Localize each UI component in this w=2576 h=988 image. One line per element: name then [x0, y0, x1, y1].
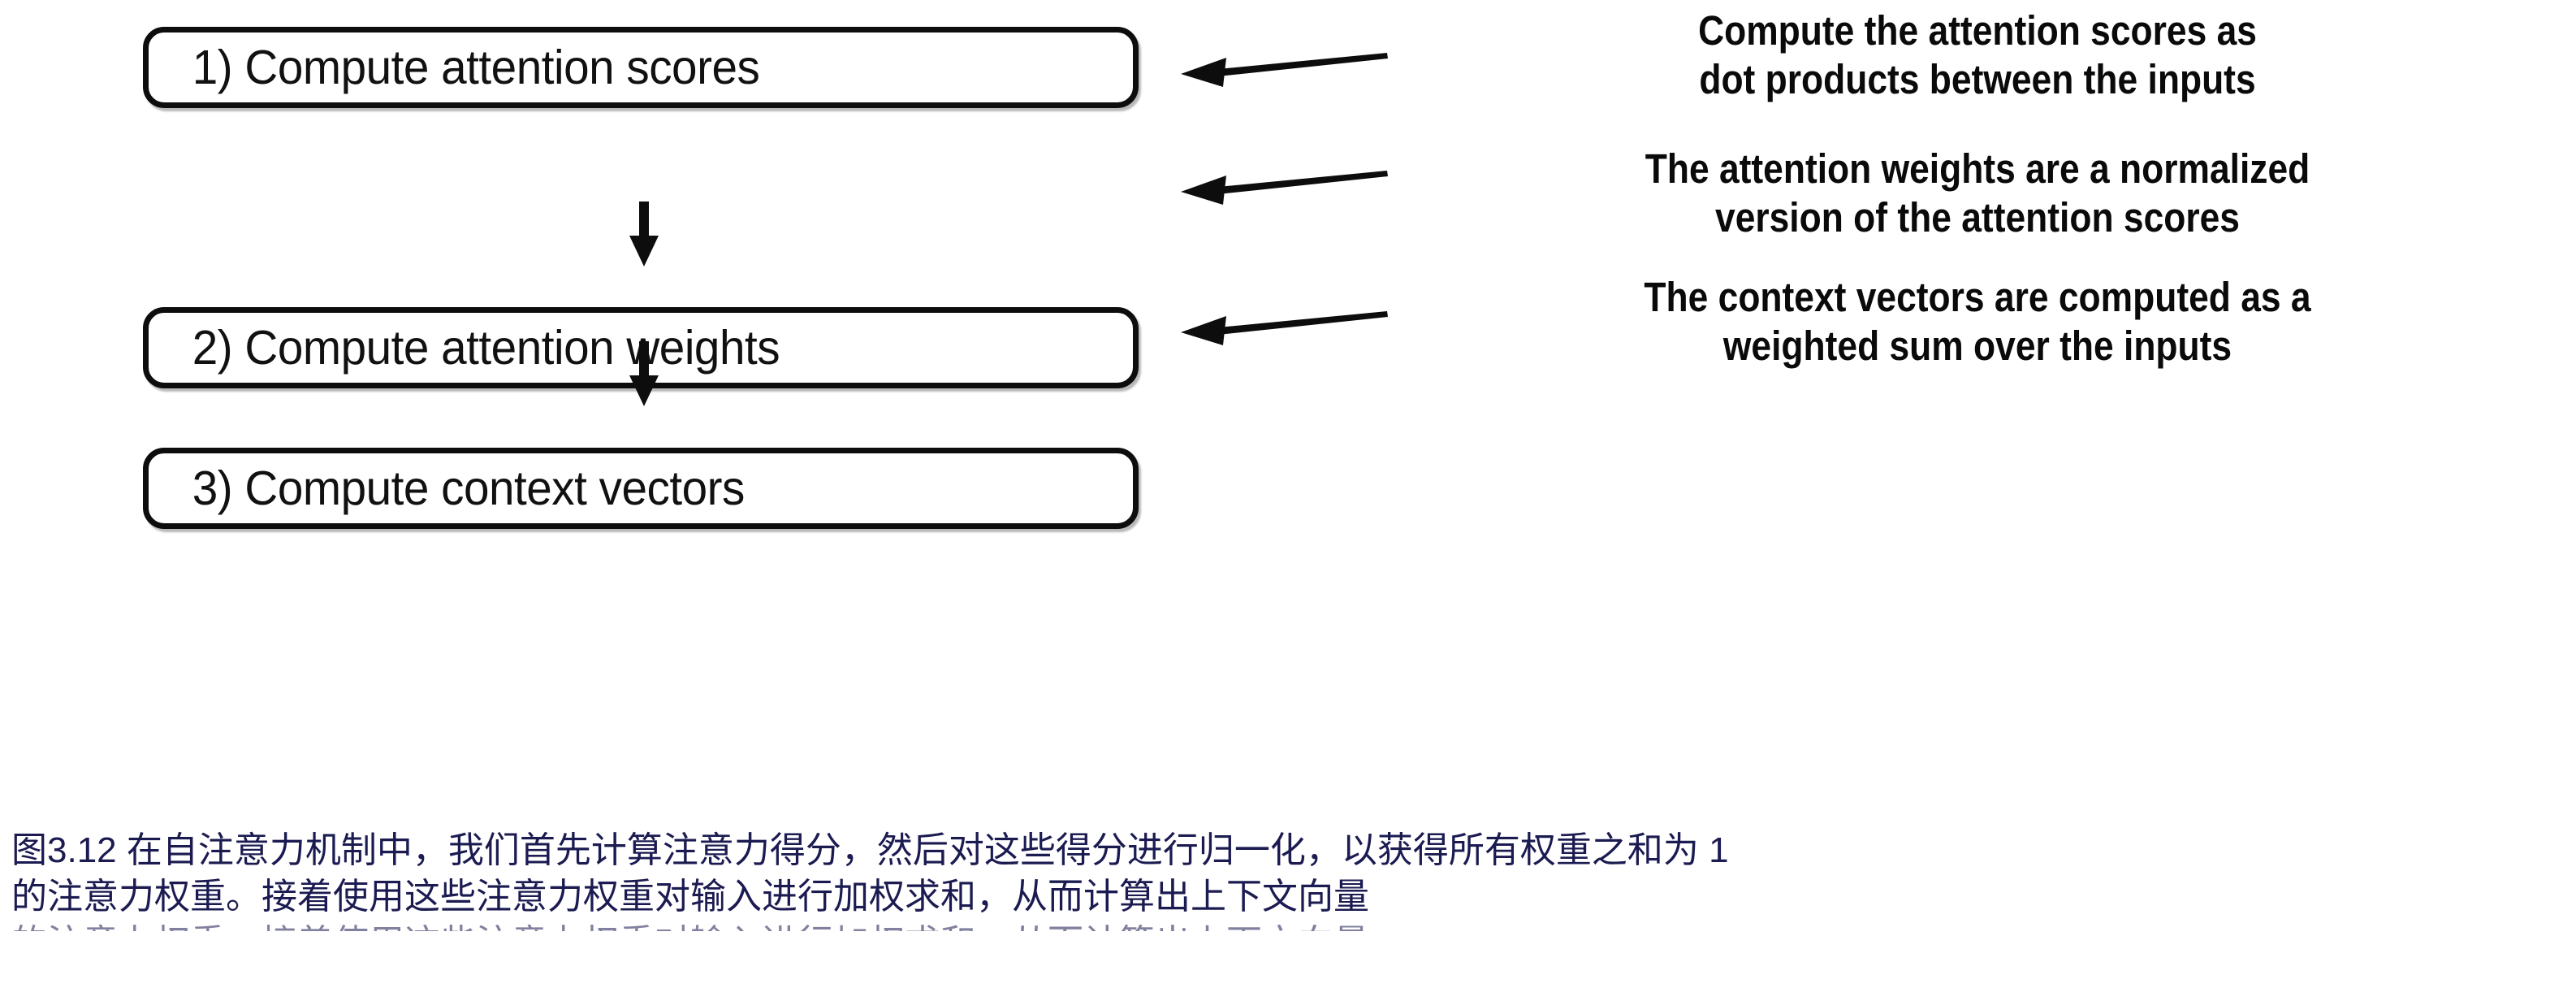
annotation-1: Compute the attention scores as dot prod… [1483, 6, 2472, 104]
annotation-2-line-1: The attention weights are a normalized [1483, 145, 2472, 193]
step-box-2-label: 2) Compute attention weights [149, 324, 780, 372]
step-box-3: 3) Compute context vectors [143, 448, 1139, 529]
down-arrow-icon [625, 341, 663, 406]
annotation-1-line-2: dot products between the inputs [1483, 55, 2472, 104]
step-box-1-label: 1) Compute attention scores [149, 44, 759, 92]
down-arrow-icon [625, 201, 663, 266]
annotation-2-line-2: version of the attention scores [1483, 193, 2472, 242]
annotation-3-line-1: The context vectors are computed as a [1483, 273, 2472, 322]
left-arrow-icon [1169, 37, 1389, 102]
figure-canvas: 1) Compute attention scores 2) Compute a… [0, 0, 2576, 988]
figure-caption: 图3.12 在自注意力机制中，我们首先计算注意力得分，然后对这些得分进行归一化，… [11, 827, 2570, 931]
left-arrow-icon [1169, 154, 1389, 219]
caption-line-2: 的注意力权重。接着使用这些注意力权重对输入进行加权求和，从而计算出上下文向量 [11, 873, 2570, 920]
annotation-1-line-1: Compute the attention scores as [1483, 6, 2472, 55]
step-box-1: 1) Compute attention scores [143, 27, 1139, 108]
annotation-3-line-2: weighted sum over the inputs [1483, 322, 2472, 370]
caption-line-1: 图3.12 在自注意力机制中，我们首先计算注意力得分，然后对这些得分进行归一化，… [11, 827, 2570, 873]
left-arrow-icon [1169, 295, 1389, 360]
annotation-2: The attention weights are a normalized v… [1483, 145, 2472, 242]
step-box-3-label: 3) Compute context vectors [149, 465, 745, 513]
caption-line-3-clipped: 的注意力权重。接着使用这些注意力权重对输入进行加权求和，从而计算出上下文向量 [11, 920, 2570, 931]
annotation-3: The context vectors are computed as a we… [1483, 273, 2472, 370]
